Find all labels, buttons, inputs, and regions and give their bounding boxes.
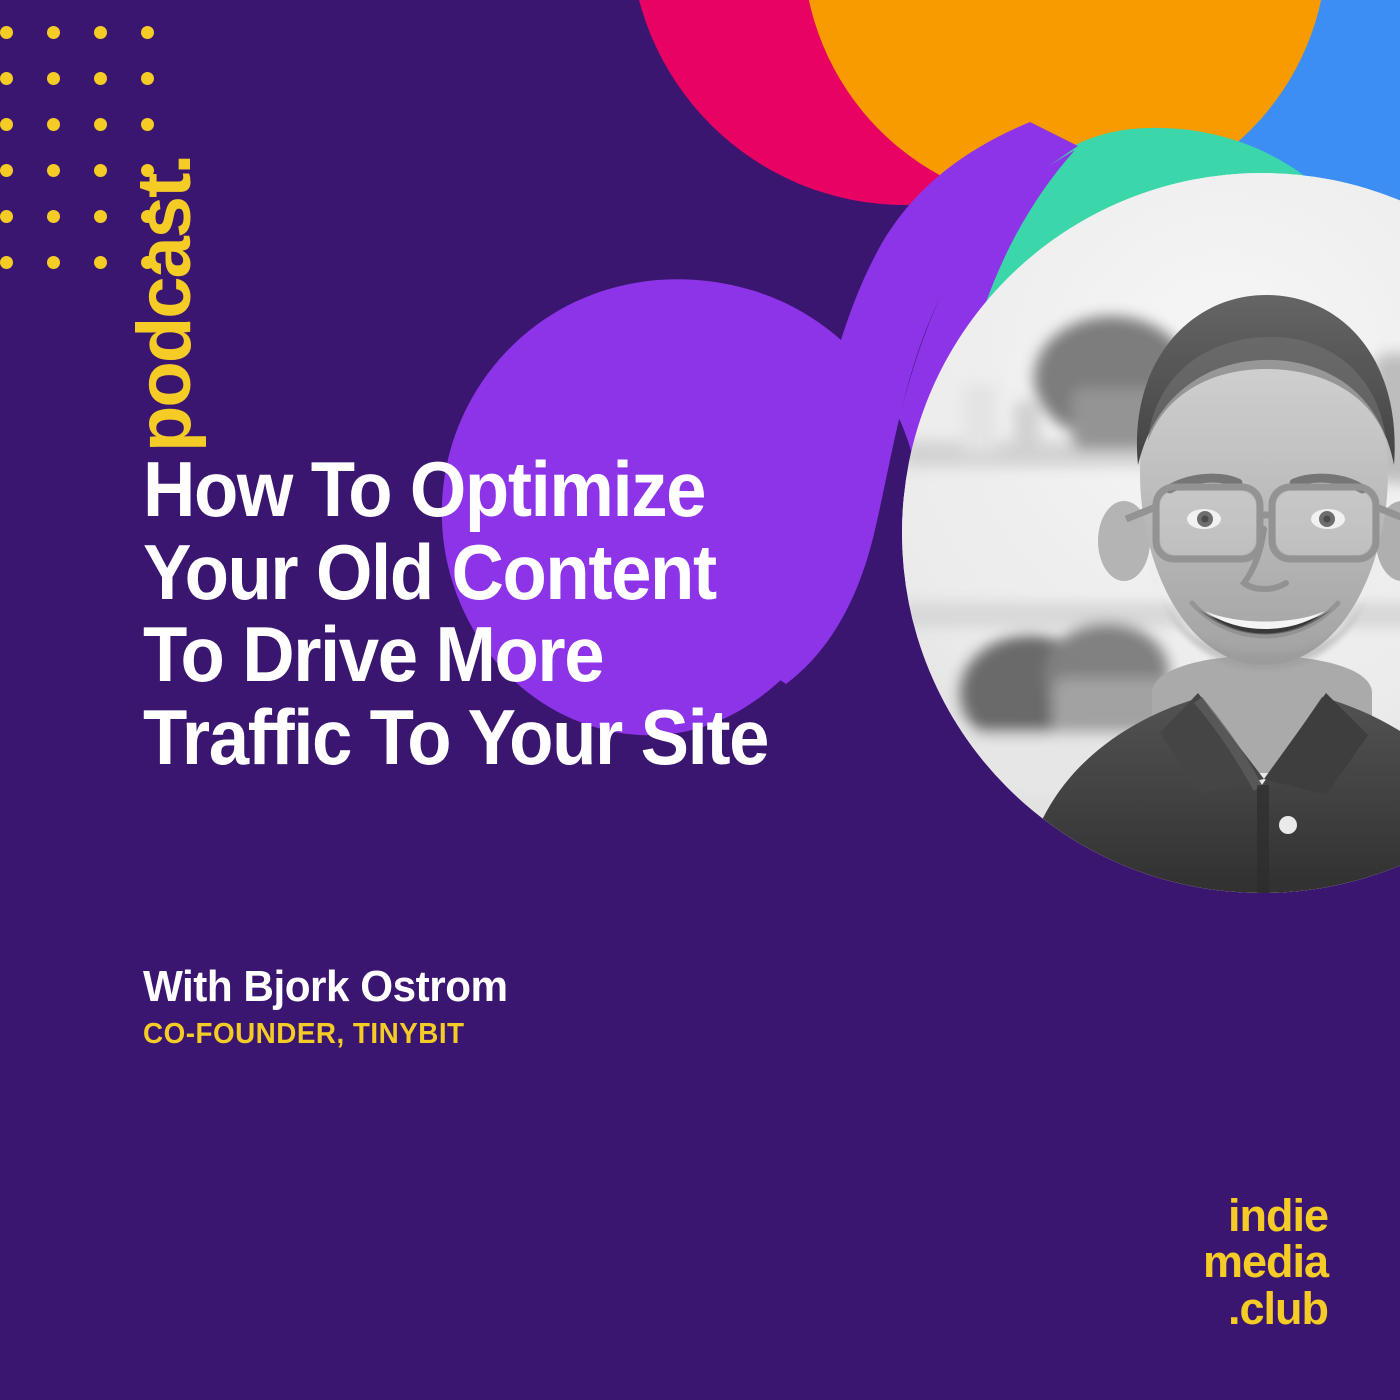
podcast-label-text: podcast. (127, 32, 203, 452)
brand-logo: indie media .club (1203, 1193, 1328, 1332)
guest-photo (902, 173, 1400, 893)
guest-avatar (902, 173, 1400, 893)
episode-title-block: How To Optimize Your Old Content To Driv… (143, 448, 943, 779)
podcast-cover-art: podcast. How To Optimize Your Old Conten… (0, 0, 1400, 1400)
brand-logo-line-2: media (1203, 1239, 1328, 1285)
guest-name: With Bjork Ostrom (143, 963, 815, 1011)
podcast-label: podcast. (0, 0, 260, 420)
brand-logo-line-1: indie (1203, 1193, 1328, 1239)
episode-title-line-4: Traffic To Your Site (143, 696, 887, 779)
episode-title-line-3: To Drive More (143, 613, 887, 696)
guest-credit-block: With Bjork Ostrom CO-FOUNDER, TINYBIT (143, 963, 843, 1051)
episode-title: How To Optimize Your Old Content To Driv… (143, 448, 887, 779)
brand-logo-line-3: .club (1203, 1286, 1328, 1332)
guest-role: CO-FOUNDER, TINYBIT (143, 1019, 815, 1051)
episode-title-line-2: Your Old Content (143, 531, 887, 614)
episode-title-line-1: How To Optimize (143, 448, 887, 531)
